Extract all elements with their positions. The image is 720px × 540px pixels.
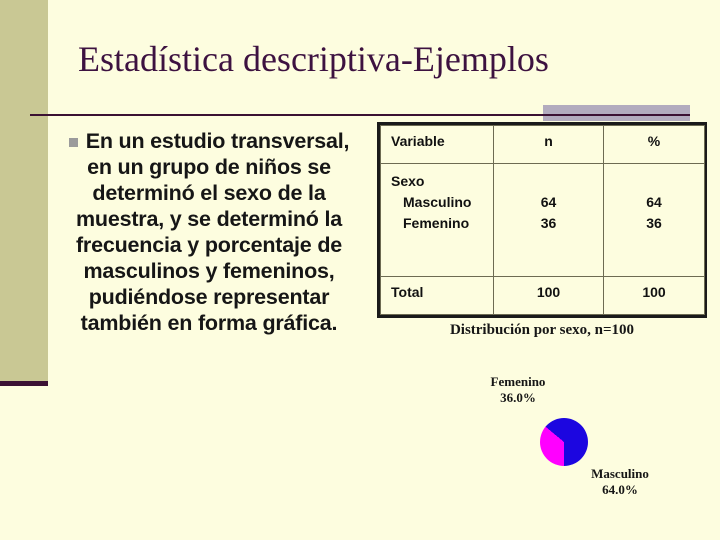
stats-table-container: Variable n % Sexo Masculino Femenino 64 xyxy=(377,122,707,318)
table-header-cell-n: n xyxy=(494,126,604,164)
table-total-percent: 100 xyxy=(604,277,704,300)
table-header-percent-label: % xyxy=(604,126,704,149)
table-group-label-sexo: Sexo xyxy=(381,164,493,192)
table-caption: Distribución por sexo, n=100 xyxy=(377,322,707,339)
table-cell-group-n: 64 36 xyxy=(494,164,604,277)
table-total-row: Total 100 100 xyxy=(381,276,705,314)
table-total-label: Total xyxy=(381,277,493,300)
table-spacer-n xyxy=(494,164,603,192)
table-cell-total-n: 100 xyxy=(494,276,604,314)
square-bullet-icon xyxy=(69,138,78,147)
table-cell-femenino-n: 36 xyxy=(494,213,603,234)
table-cell-femenino-percent: 36 xyxy=(604,213,704,234)
stats-table: Variable n % Sexo Masculino Femenino 64 xyxy=(380,125,705,315)
pie-chart: Femenino 36.0% Masculino 64.0% xyxy=(430,368,720,518)
page-title: Estadística descriptiva-Ejemplos xyxy=(78,38,678,80)
pie-label-femenino-value: 36.0% xyxy=(468,390,568,406)
pie-label-masculino: Masculino 64.0% xyxy=(560,466,680,498)
sidebar-bottom-rule xyxy=(0,381,48,386)
table-header-n-label: n xyxy=(494,126,603,149)
table-cell-total-percent: 100 xyxy=(604,276,705,314)
pie-label-masculino-name: Masculino xyxy=(560,466,680,482)
table-row: Sexo Masculino Femenino 64 36 64 36 xyxy=(381,164,705,277)
table-cell-masculino-n: 64 xyxy=(494,192,603,213)
table-cell-masculino-percent: 64 xyxy=(604,192,704,213)
header-accent-block xyxy=(543,105,690,121)
bullet-paragraph-text: En un estudio transversal, en un grupo d… xyxy=(76,129,349,335)
bullet-paragraph: En un estudio transversal, en un grupo d… xyxy=(64,128,354,336)
pie-chart-circle xyxy=(540,418,588,466)
sidebar-decorative-band xyxy=(0,0,48,381)
pie-label-femenino: Femenino 36.0% xyxy=(468,374,568,406)
pie-label-masculino-value: 64.0% xyxy=(560,482,680,498)
table-header-cell-variable: Variable xyxy=(381,126,494,164)
table-cell-total-label: Total xyxy=(381,276,494,314)
table-row-label-femenino: Femenino xyxy=(381,213,493,234)
table-header-variable-label: Variable xyxy=(381,126,493,149)
table-cell-group-percent: 64 36 xyxy=(604,164,705,277)
table-header-row: Variable n % xyxy=(381,126,705,164)
title-divider-rule xyxy=(30,114,690,116)
table-row-label-masculino: Masculino xyxy=(381,192,493,213)
slide-canvas: Estadística descriptiva-Ejemplos En un e… xyxy=(0,0,720,540)
pie-label-femenino-name: Femenino xyxy=(468,374,568,390)
table-header-cell-percent: % xyxy=(604,126,705,164)
table-total-n: 100 xyxy=(494,277,603,300)
table-cell-group-labels: Sexo Masculino Femenino xyxy=(381,164,494,277)
table-spacer-percent xyxy=(604,164,704,192)
